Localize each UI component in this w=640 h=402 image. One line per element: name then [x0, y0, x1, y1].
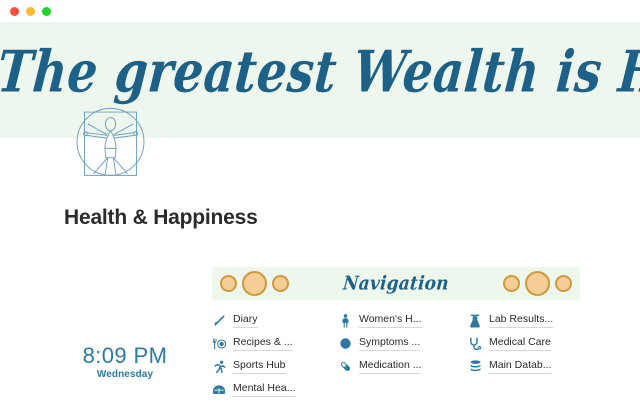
coin-icon	[555, 275, 572, 292]
nav-item-label: Symptoms ...	[359, 336, 420, 351]
navigation-header: Navigation	[212, 267, 580, 300]
nav-item-label: Medical Care	[489, 336, 551, 351]
navigation-column-2: Women's H... Symptoms ...	[338, 310, 468, 402]
female-person-icon	[338, 314, 352, 328]
pencil-icon	[212, 314, 226, 328]
nav-item-main-database[interactable]: Main Datab...	[468, 356, 580, 377]
nav-item-label: Sports Hub	[233, 359, 286, 374]
clock-time: 8:09 PM	[62, 344, 188, 367]
navigation-columns: Diary Recipes & ...	[212, 300, 580, 402]
coin-icon	[220, 275, 237, 292]
close-window-button[interactable]	[10, 7, 19, 16]
banner-title: The greatest Wealth is Health	[0, 44, 640, 101]
navigation-card: Navigation Diary	[212, 267, 580, 402]
nav-item-label: Medication ...	[359, 359, 421, 374]
navigation-title: Navigation	[342, 272, 450, 294]
pill-icon	[338, 360, 352, 374]
nav-item-womens-health[interactable]: Women's H...	[338, 310, 468, 331]
nav-item-label: Recipes & ...	[233, 336, 293, 351]
window-titlebar	[0, 0, 640, 22]
nav-item-label: Women's H...	[359, 313, 422, 328]
nav-item-sports-hub[interactable]: Sports Hub	[212, 356, 338, 377]
navigation-column-3: Lab Results... Medical Care	[468, 310, 580, 402]
navigation-column-1: Diary Recipes & ...	[212, 310, 338, 402]
flask-icon	[468, 314, 482, 328]
brain-icon	[212, 383, 226, 397]
circle-dot-icon	[338, 337, 352, 351]
coin-icon	[242, 271, 267, 296]
vitruvian-man-icon	[63, 100, 158, 180]
nav-item-label: Mental Hea...	[233, 382, 295, 397]
fork-plate-icon	[212, 337, 226, 351]
nav-item-recipes[interactable]: Recipes & ...	[212, 333, 338, 354]
page-title: Health & Happiness	[64, 206, 258, 230]
coin-icon	[525, 271, 550, 296]
nav-item-symptoms[interactable]: Symptoms ...	[338, 333, 468, 354]
stethoscope-icon	[468, 337, 482, 351]
nav-item-mental-health[interactable]: Mental Hea...	[212, 379, 338, 400]
coin-group-left	[220, 271, 289, 296]
nav-item-diary[interactable]: Diary	[212, 310, 338, 331]
nav-item-lab-results[interactable]: Lab Results...	[468, 310, 580, 331]
nav-item-medical-care[interactable]: Medical Care	[468, 333, 580, 354]
nav-item-label: Main Datab...	[489, 359, 551, 374]
running-person-icon	[212, 360, 226, 374]
clock-day: Wednesday	[62, 369, 188, 380]
coin-icon	[272, 275, 289, 292]
coin-icon	[503, 275, 520, 292]
maximize-window-button[interactable]	[42, 7, 51, 16]
nav-item-label: Diary	[233, 313, 258, 328]
minimize-window-button[interactable]	[26, 7, 35, 16]
nav-item-label: Lab Results...	[489, 313, 553, 328]
coin-group-right	[503, 271, 572, 296]
nav-item-medication[interactable]: Medication ...	[338, 356, 468, 377]
clock-widget: 8:09 PM Wednesday	[62, 344, 188, 380]
database-icon	[468, 360, 482, 374]
